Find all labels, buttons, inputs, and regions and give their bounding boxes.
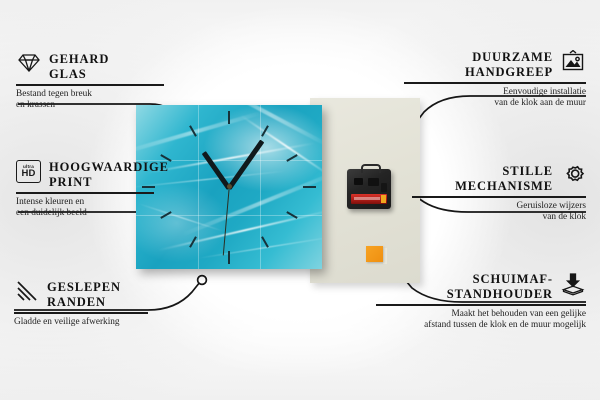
mechanism-housing (368, 178, 379, 186)
feature-description: Maakt het behouden van een gelijke afsta… (376, 309, 586, 332)
feature-description: Geruisloze wijzers van de klok (412, 201, 586, 224)
feature-title: SCHUIMAF- STANDHOUDER (447, 272, 553, 301)
feature-rule (412, 196, 586, 198)
feature-hoogwaardige-print: ultra HD HOOGWAARDIGE PRINT Intense kleu… (16, 160, 206, 219)
battery-label (354, 197, 380, 200)
battery-plus-terminal (381, 195, 386, 203)
clock-tick (228, 111, 230, 124)
hd-badge-main-text: HD (21, 169, 35, 179)
framed-picture-icon (560, 50, 586, 74)
feature-title: GESLEPEN RANDEN (47, 280, 121, 309)
feature-gehard-glas: GEHARD GLAS Bestand tegen breuk en krass… (16, 52, 194, 111)
feature-rule (14, 312, 148, 314)
feature-schuimafstandhouder: SCHUIMAF- STANDHOUDER Maakt het behouden… (376, 272, 586, 331)
infographic-canvas: GEHARD GLAS Bestand tegen breuk en krass… (0, 0, 600, 400)
feature-title: HOOGWAARDIGE PRINT (49, 160, 169, 189)
clock-mechanism (347, 169, 391, 209)
down-arrow-pad-icon (560, 272, 586, 296)
clock-tick (303, 186, 316, 188)
clock-tick (228, 251, 230, 264)
feature-rule (404, 82, 586, 84)
battery (351, 194, 387, 204)
feature-description: Intense kleuren en een duidelijk beeld (16, 197, 206, 220)
feature-description: Eenvoudige installatie van de klok aan d… (404, 87, 586, 110)
feature-rule (16, 192, 154, 194)
feature-title: STILLE MECHANISME (455, 164, 553, 193)
mechanism-shaft (354, 178, 363, 185)
clock-minute-hand (227, 140, 264, 190)
feature-duurzame-handgreep: DUURZAME HANDGREEP Eenvoudige installati… (404, 50, 586, 109)
foam-spacer-side (383, 248, 387, 264)
diamond-icon (16, 52, 42, 76)
gear-icon (560, 164, 586, 188)
feature-title: GEHARD GLAS (49, 52, 109, 81)
foam-spacer (366, 246, 383, 262)
feature-geslepen-randen: GESLEPEN RANDEN Gladde en veilige afwerk… (14, 280, 204, 328)
mechanism-knob (381, 183, 387, 192)
feature-stille-mechanisme: STILLE MECHANISME Geruisloze wijzers van… (412, 164, 586, 223)
feature-description: Gladde en veilige afwerking (14, 317, 204, 328)
clock-tick (261, 236, 269, 247)
mechanism-hanger (361, 164, 381, 173)
feature-rule (376, 304, 586, 306)
ultra-hd-badge-icon: ultra HD (16, 160, 42, 184)
feature-title: DUURZAME HANDGREEP (465, 50, 553, 79)
clock-second-hand (222, 188, 229, 256)
clock-hub (227, 184, 232, 189)
feature-description: Bestand tegen breuk en krassen (16, 89, 194, 112)
feature-rule (16, 84, 164, 86)
bevelled-edges-icon (14, 280, 40, 304)
